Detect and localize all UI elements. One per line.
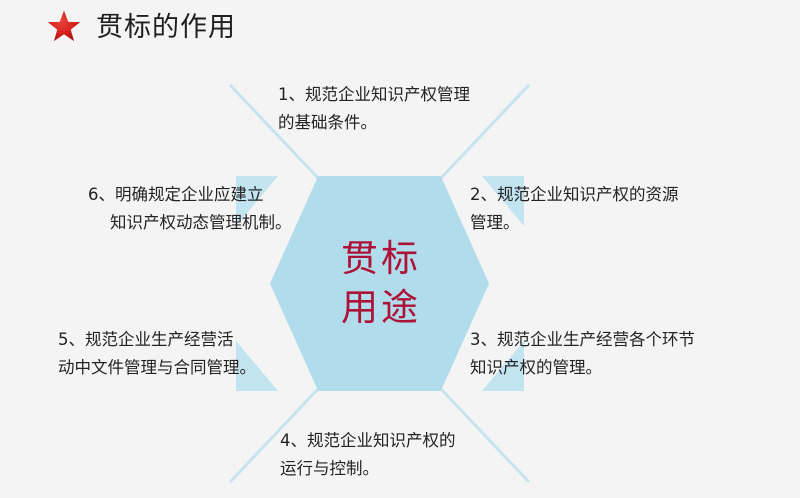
item-label-2: 2、规范企业知识产权的资源 管理。 xyxy=(470,181,679,238)
item-label-3-line2: 知识产权的管理。 xyxy=(470,354,695,382)
item-label-1-line2: 的基础条件。 xyxy=(278,109,470,137)
item-label-4-line1: 4、规范企业知识产权的 xyxy=(280,427,456,455)
center-hexagon-line1: 贯标 xyxy=(338,235,421,284)
center-hexagon: 贯标 用途 xyxy=(270,176,489,391)
item-label-6: 6、明确规定企业应建立 知识产权动态管理机制。 xyxy=(88,181,292,238)
center-hexagon-shape: 贯标 用途 xyxy=(270,176,489,391)
item-label-5-line2: 动中文件管理与合同管理。 xyxy=(58,354,256,382)
item-label-3-line1: 3、规范企业生产经营各个环节 xyxy=(470,326,695,354)
item-label-4: 4、规范企业知识产权的 运行与控制。 xyxy=(280,427,456,484)
item-label-1: 1、规范企业知识产权管理 的基础条件。 xyxy=(278,81,470,138)
item-label-2-line2: 管理。 xyxy=(470,209,679,237)
center-hexagon-line2: 用途 xyxy=(338,284,421,333)
item-label-1-line1: 1、规范企业知识产权管理 xyxy=(278,81,470,109)
item-label-6-line2: 知识产权动态管理机制。 xyxy=(88,209,292,237)
item-label-2-line1: 2、规范企业知识产权的资源 xyxy=(470,181,679,209)
item-label-3: 3、规范企业生产经营各个环节 知识产权的管理。 xyxy=(470,326,695,383)
slide-canvas: 贯标的作用 贯标 用途 1、规范企业知识产 xyxy=(0,0,800,498)
item-label-4-line2: 运行与控制。 xyxy=(280,455,456,483)
item-label-5: 5、规范企业生产经营活 动中文件管理与合同管理。 xyxy=(58,326,256,383)
item-label-5-line1: 5、规范企业生产经营活 xyxy=(58,326,256,354)
item-label-6-line1: 6、明确规定企业应建立 xyxy=(88,181,292,209)
